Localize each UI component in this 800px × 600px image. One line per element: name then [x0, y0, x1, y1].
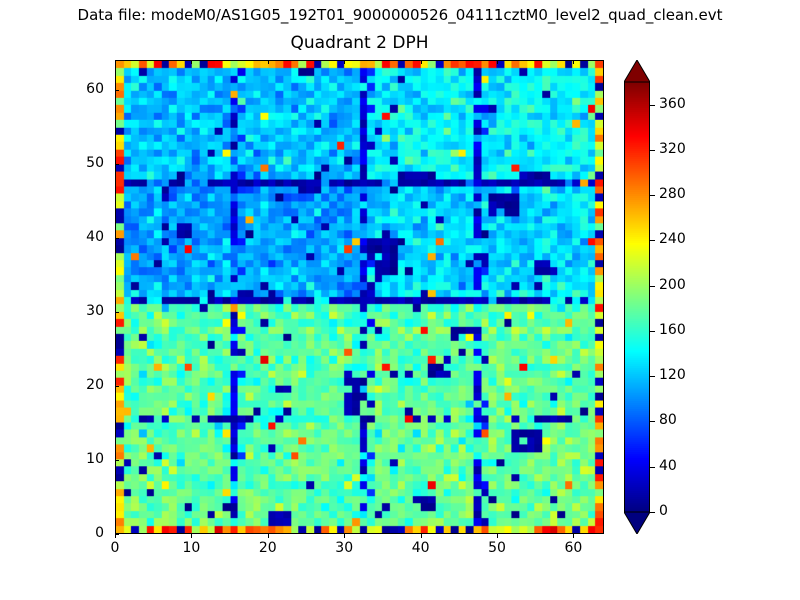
x-axis-tick-label: 50 [467, 540, 527, 556]
colorbar-tick [650, 150, 655, 151]
x-axis-tick-label: 60 [543, 540, 603, 556]
colorbar-tick-label: 80 [659, 412, 677, 428]
colorbar-tick [650, 286, 655, 287]
x-axis-tick [497, 534, 498, 538]
x-axis-tick [421, 534, 422, 538]
figure-canvas: Data file: modeM0/AS1G05_192T01_90000005… [0, 0, 800, 600]
colorbar-tick [650, 376, 655, 377]
x-axis-tick [268, 534, 269, 538]
colorbar-tick [650, 240, 655, 241]
colorbar-tick-label: 320 [659, 141, 686, 157]
x-axis-tick-top [497, 60, 498, 64]
colorbar-gradient [624, 60, 650, 534]
detector-heatmap-image[interactable] [116, 61, 603, 533]
x-axis-tick-top [421, 60, 422, 64]
x-axis-tick [573, 534, 574, 538]
colorbar-tick [650, 512, 655, 513]
y-axis-tick-label: 20 [44, 377, 104, 393]
y-axis-tick [115, 386, 119, 387]
page-title: Quadrant 2 DPH [115, 33, 604, 53]
x-axis-tick-label: 0 [85, 540, 145, 556]
x-axis-tick [344, 534, 345, 538]
colorbar-tick [650, 105, 655, 106]
y-axis-tick [115, 460, 119, 461]
x-axis-tick-top [344, 60, 345, 64]
y-axis-tick-label: 30 [44, 303, 104, 319]
y-axis-tick-label: 50 [44, 155, 104, 171]
x-axis-tick-label: 40 [391, 540, 451, 556]
colorbar-extend-max-arrow [624, 60, 650, 82]
colorbar-tick-label: 240 [659, 231, 686, 247]
colorbar[interactable] [624, 60, 650, 534]
colorbar-tick-label: 0 [659, 503, 668, 519]
x-axis-tick-top [573, 60, 574, 64]
y-axis-tick [115, 90, 119, 91]
y-axis-tick-label: 10 [44, 451, 104, 467]
colorbar-tick-label: 360 [659, 96, 686, 112]
colorbar-tick [650, 331, 655, 332]
x-axis-tick-top [191, 60, 192, 64]
x-axis-tick-label: 10 [161, 540, 221, 556]
colorbar-tick-label: 280 [659, 186, 686, 202]
y-axis-tick [115, 164, 119, 165]
colorbar-tick [650, 195, 655, 196]
colorbar-tick [650, 421, 655, 422]
x-axis-tick [191, 534, 192, 538]
y-axis-tick-label: 0 [44, 525, 104, 541]
y-axis-tick-label: 40 [44, 229, 104, 245]
x-axis-tick-top [115, 60, 116, 64]
colorbar-tick-label: 200 [659, 277, 686, 293]
y-axis-tick [115, 534, 119, 535]
colorbar-tick-label: 160 [659, 322, 686, 338]
data-file-label: Data file: modeM0/AS1G05_192T01_90000005… [0, 6, 800, 24]
x-axis-tick-label: 30 [314, 540, 374, 556]
colorbar-tick-label: 120 [659, 367, 686, 383]
colorbar-extend-min-arrow [624, 512, 650, 534]
x-axis-tick-label: 20 [238, 540, 298, 556]
x-axis-tick-top [268, 60, 269, 64]
colorbar-tick [650, 467, 655, 468]
y-axis-tick [115, 238, 119, 239]
y-axis-tick [115, 312, 119, 313]
y-axis-tick-label: 60 [44, 81, 104, 97]
heatmap-axes[interactable] [115, 60, 604, 534]
colorbar-tick-label: 40 [659, 458, 677, 474]
